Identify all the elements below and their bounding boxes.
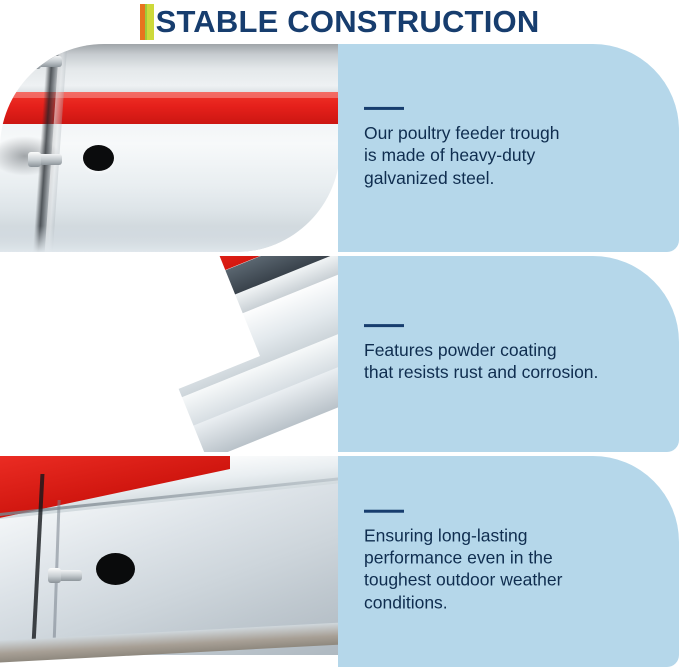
feature-row-material: Our poultry feeder trough is made of hea… xyxy=(0,44,679,252)
drain-hole-icon xyxy=(83,145,114,171)
feature-row-coating: Features powder coating that resists rus… xyxy=(0,256,679,452)
page-title: STABLE CONSTRUCTION xyxy=(156,4,540,40)
feature-panel-material: Our poultry feeder trough is made of hea… xyxy=(338,44,679,252)
page-header: STABLE CONSTRUCTION xyxy=(0,0,679,44)
feature-image-durability xyxy=(0,456,340,667)
divider-dash xyxy=(364,509,404,512)
feature-panel-durability: Ensuring long-lasting performance even i… xyxy=(338,456,679,667)
feature-text-material: Our poultry feeder trough is made of hea… xyxy=(364,122,661,189)
feature-panel-coating: Features powder coating that resists rus… xyxy=(338,256,679,452)
bolt-icon xyxy=(56,570,82,581)
bolt-icon xyxy=(36,56,62,67)
feature-row-durability: Ensuring long-lasting performance even i… xyxy=(0,456,679,667)
feature-text-durability: Ensuring long-lasting performance even i… xyxy=(364,524,661,614)
bolt-icon xyxy=(36,154,62,165)
divider-dash xyxy=(364,107,404,110)
feature-image-material xyxy=(0,44,340,252)
accent-bar-icon xyxy=(140,4,154,40)
drain-hole-icon xyxy=(96,553,135,585)
feature-image-coating xyxy=(0,256,340,452)
product-feature-infographic: STABLE CONSTRUCTION Our poultry feeder t… xyxy=(0,0,679,667)
feature-text-coating: Features powder coating that resists rus… xyxy=(364,339,661,384)
divider-dash xyxy=(364,324,404,327)
